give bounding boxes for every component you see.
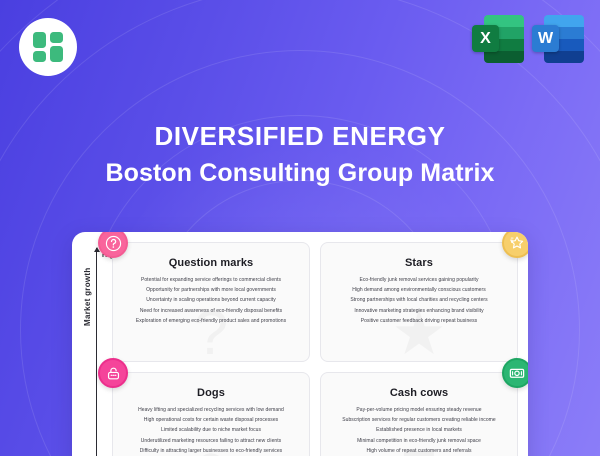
list-item: High demand among environmentally consci…	[329, 286, 509, 296]
grid-logo-icon	[33, 32, 63, 62]
y-axis-title: Market growth	[83, 267, 92, 326]
list-item: Exploration of emerging eco-friendly pro…	[121, 316, 301, 326]
word-badge-letter: W	[532, 25, 559, 52]
bcg-matrix-card: High Market growth ? Question marks Pote…	[72, 232, 528, 456]
list-item: Limited scalability due to niche market …	[121, 426, 301, 436]
list-item: Subscription services for regular custom…	[329, 416, 509, 426]
quadrant-stars[interactable]: ★ Stars Eco-friendly junk removal servic…	[320, 242, 518, 362]
list-item: Strong partnerships with local charities…	[329, 296, 509, 306]
star-icon	[502, 232, 528, 258]
quadrant-cash-cows[interactable]: ■ Cash cows Pay-per-volume pricing model…	[320, 372, 518, 456]
quadrant-item-list: Eco-friendly junk removal services gaini…	[329, 276, 509, 326]
slide-canvas: X W DIVERSIFIED ENERGY Boston Consulting…	[0, 0, 600, 456]
list-item: Heavy lifting and specialized recycling …	[121, 406, 301, 416]
list-item: Eco-friendly junk removal services gaini…	[329, 276, 509, 286]
brand-logo	[19, 18, 77, 76]
list-item: Uncertainty in scaling operations beyond…	[121, 296, 301, 306]
list-item: High volume of repeat customers and refe…	[329, 446, 509, 456]
list-item: Potential for expanding service offering…	[121, 276, 301, 286]
page-subtitle: Boston Consulting Group Matrix	[0, 160, 600, 188]
excel-badge-letter: X	[472, 25, 499, 52]
quadrant-title: Stars	[329, 257, 509, 269]
quadrant-item-list: Pay-per-volume pricing model ensuring st…	[329, 406, 509, 456]
list-item: Minimal competition in eco-friendly junk…	[329, 436, 509, 446]
quadrant-question-marks[interactable]: ? Question marks Potential for expanding…	[112, 242, 310, 362]
quadrant-item-list: Potential for expanding service offering…	[121, 276, 301, 326]
page-title: DIVERSIFIED ENERGY	[0, 122, 600, 151]
list-item: Opportunity for partnerships with more l…	[121, 286, 301, 296]
excel-icon[interactable]: X	[472, 13, 524, 65]
list-item: Difficulty in attracting larger business…	[121, 446, 301, 456]
quadrant-item-list: Heavy lifting and specialized recycling …	[121, 406, 301, 456]
list-item: Underutilized marketing resources failin…	[121, 436, 301, 446]
quadrant-dogs[interactable]: ● Dogs Heavy lifting and specialized rec…	[112, 372, 310, 456]
y-axis-line	[96, 248, 97, 456]
list-item: Pay-per-volume pricing model ensuring st…	[329, 406, 509, 416]
quadrant-title: Dogs	[121, 387, 301, 399]
quadrant-title: Question marks	[121, 257, 301, 269]
quadrant-title: Cash cows	[329, 387, 509, 399]
lock-icon	[98, 358, 128, 388]
list-item: Innovative marketing strategies enhancin…	[329, 306, 509, 316]
list-item: Need for increased awareness of eco-frie…	[121, 306, 301, 316]
word-icon[interactable]: W	[532, 13, 584, 65]
office-icons: X W	[472, 13, 584, 65]
list-item: Established presence in local markets	[329, 426, 509, 436]
matrix-grid: ? Question marks Potential for expanding…	[112, 242, 518, 456]
list-item: Positive customer feedback driving repea…	[329, 316, 509, 326]
header-block: DIVERSIFIED ENERGY Boston Consulting Gro…	[0, 122, 600, 187]
money-icon	[502, 358, 528, 388]
list-item: High operational costs for certain waste…	[121, 416, 301, 426]
question-mark-icon	[98, 232, 128, 258]
